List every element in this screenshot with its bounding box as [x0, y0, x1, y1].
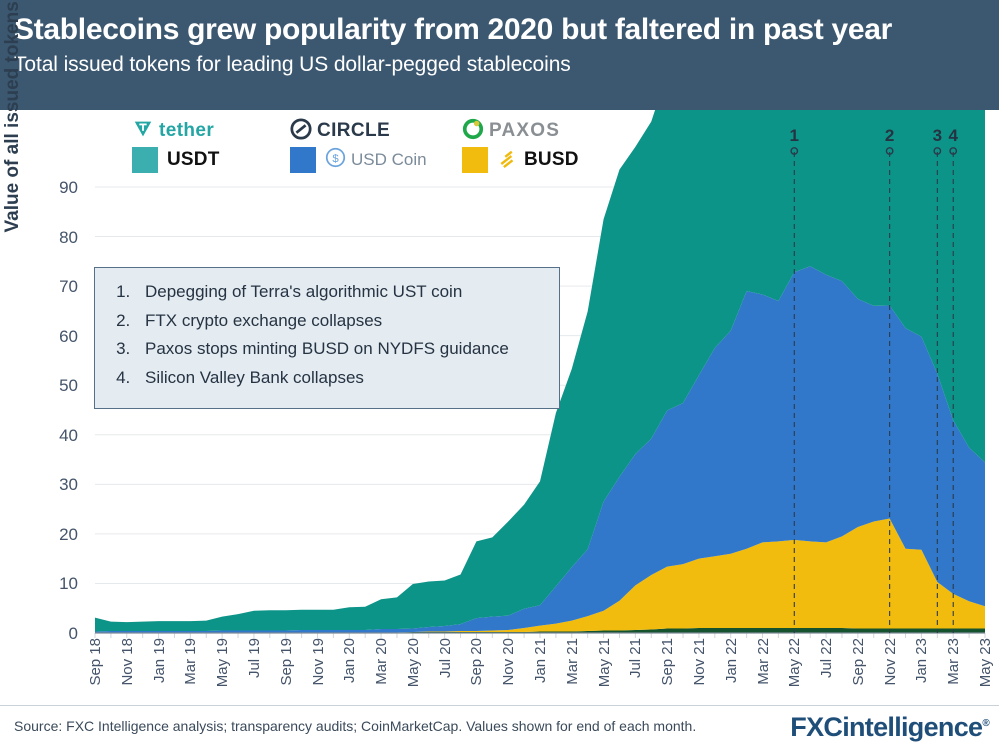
x-axis-tick-label: Jan 22	[723, 638, 740, 683]
x-axis-tick-label: Jul 20	[437, 638, 454, 678]
x-axis-tick-label: Nov 18	[119, 638, 136, 686]
x-axis-tick-label: May 19	[214, 638, 231, 687]
x-axis-tick-label: Jul 21	[627, 638, 644, 678]
x-axis-tick-label: Nov 20	[500, 638, 517, 686]
x-axis-tick-label: May 22	[786, 638, 803, 687]
x-axis-tick-label: Mar 21	[564, 638, 581, 685]
x-axis-tick-label: Sep 21	[659, 638, 676, 686]
page-title: Stablecoins grew popularity from 2020 bu…	[14, 12, 999, 48]
annotation-item: FTX crypto exchange collapses	[135, 307, 547, 336]
logo-intelligence: intelligence	[842, 712, 982, 742]
annotation-item: Silicon Valley Bank collapses	[135, 364, 547, 393]
fxc-intelligence-logo: FXCintelligence®	[790, 712, 989, 743]
chart-plot-area: Value of all issued tokens ($bn) 0102030…	[0, 110, 999, 705]
x-axis-tick-label: Jul 22	[818, 638, 835, 678]
x-axis-tick-label: Sep 20	[468, 638, 485, 686]
x-axis-tick-label: May 20	[405, 638, 422, 687]
annotation-item: Depegging of Terra's algorithmic UST coi…	[135, 278, 547, 307]
event-marker-number: 3	[933, 126, 942, 146]
x-axis-tick-label: Mar 19	[182, 638, 199, 685]
x-axis-tick-label: Nov 22	[882, 638, 899, 686]
x-axis-tick-label: Jan 19	[151, 638, 168, 683]
x-axis-tick-label: May 21	[596, 638, 613, 687]
x-axis-tick-label: Jan 23	[913, 638, 930, 683]
source-note: Source: FXC Intelligence analysis; trans…	[14, 718, 696, 734]
header-banner: Stablecoins grew popularity from 2020 bu…	[0, 0, 999, 110]
x-axis-tick-label: Nov 21	[691, 638, 708, 686]
x-axis-tick-label: Sep 18	[87, 638, 104, 686]
annotation-list: Depegging of Terra's algorithmic UST coi…	[113, 278, 547, 392]
x-axis-tick-label: Sep 22	[850, 638, 867, 686]
logo-trademark: ®	[982, 718, 989, 729]
x-axis-tick-label: May 23	[977, 638, 994, 687]
event-marker-number: 1	[790, 126, 799, 146]
x-axis-tick-label: Nov 19	[310, 638, 327, 686]
x-axis-tick-label: Jan 21	[532, 638, 549, 683]
event-marker-number: 4	[948, 126, 957, 146]
x-axis-tick-label: Mar 22	[755, 638, 772, 685]
x-axis-ticks: Sep 18Nov 18Jan 19Mar 19May 19Jul 19Sep …	[0, 638, 999, 708]
annotation-item: Paxos stops minting BUSD on NYDFS guidan…	[135, 335, 547, 364]
x-axis-tick-label: Mar 20	[373, 638, 390, 685]
x-axis-tick-label: Mar 23	[945, 638, 962, 685]
x-axis-tick-label: Jan 20	[341, 638, 358, 683]
event-marker-number: 2	[885, 126, 894, 146]
footer-bar: Source: FXC Intelligence analysis; trans…	[0, 705, 999, 750]
annotation-box: Depegging of Terra's algorithmic UST coi…	[94, 267, 560, 409]
x-axis-tick-label: Jul 19	[246, 638, 263, 678]
logo-fxc: FXC	[790, 712, 842, 742]
x-axis-tick-label: Sep 19	[278, 638, 295, 686]
page-subtitle: Total issued tokens for leading US dolla…	[14, 52, 999, 78]
